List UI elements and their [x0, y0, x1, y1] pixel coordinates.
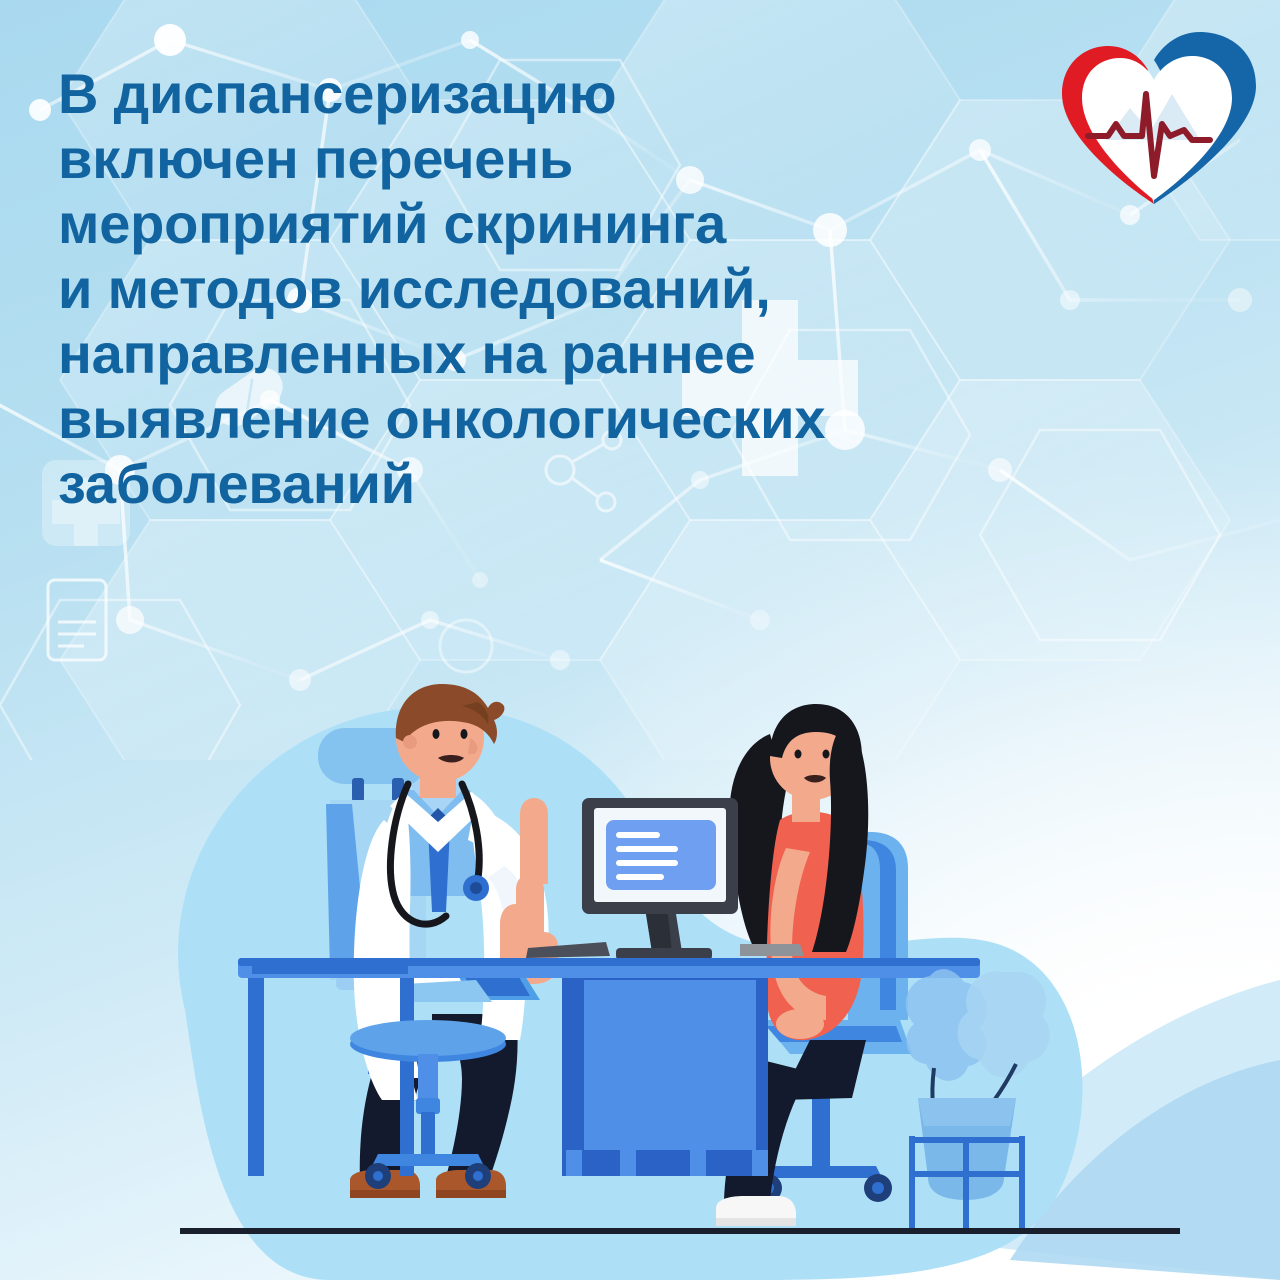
headline-line: заболеваний [58, 452, 1068, 517]
headline-line: и методов исследований, [58, 257, 1068, 322]
headline-line: включен перечень [58, 127, 1068, 192]
poster-canvas: В диспансеризацию включен перечень мероп… [0, 0, 1280, 1280]
headline-line: направленных на раннее [58, 322, 1068, 387]
headline-line: мероприятий скрининга [58, 192, 1068, 257]
floor-line [180, 1228, 1180, 1234]
headline-line: В диспансеризацию [58, 62, 1068, 127]
doctor-patient-consultation-illustration [0, 680, 1280, 1280]
heart-ecg-logo [1050, 28, 1262, 216]
headline-line: выявление онкологических [58, 387, 1068, 452]
page-title: В диспансеризацию включен перечень мероп… [58, 62, 1068, 517]
